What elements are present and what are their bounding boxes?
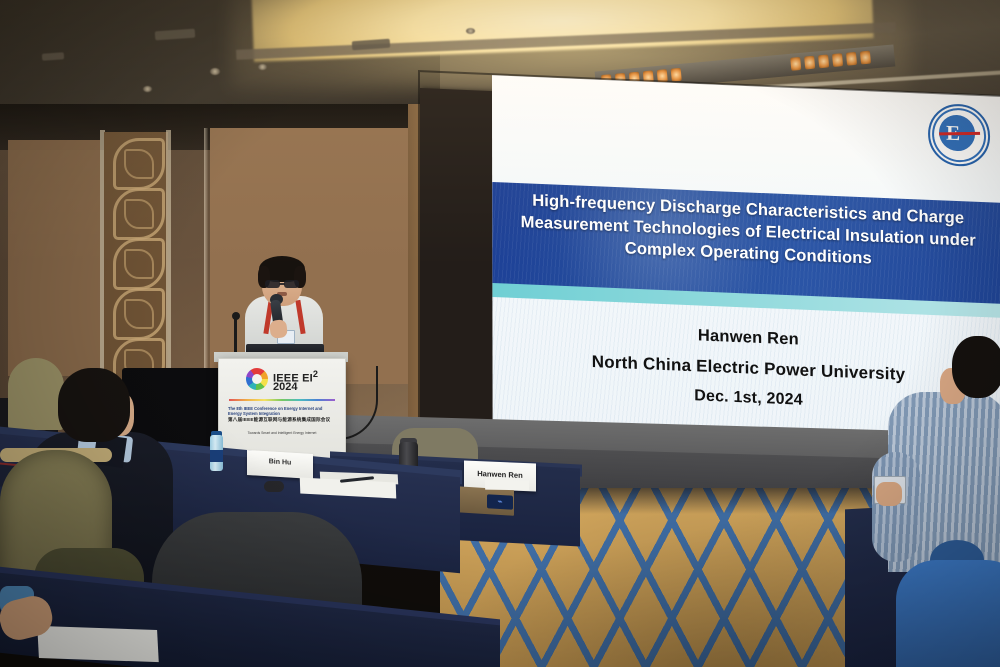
audience-member-hand	[876, 482, 902, 506]
fretwork-frame-right	[166, 130, 171, 384]
banquet-chair-background	[8, 358, 64, 430]
podium-conference-line-english: The 8th IEEE Conference on Energy Intern…	[228, 406, 336, 416]
podium-conference-line-chinese: 第八届IEEE能源互联网与能源系统集成国际会议	[228, 417, 336, 423]
audience-member-arm	[872, 452, 920, 562]
podium-color-rule	[229, 399, 335, 401]
speaker-glasses-left-lens	[265, 280, 280, 288]
ceiling-downlight	[466, 28, 475, 34]
audience-member-head	[58, 368, 130, 442]
speaker-hand	[269, 319, 288, 339]
speaker-glasses-right-lens	[284, 280, 299, 288]
papers	[485, 480, 529, 491]
name-card-label: Bin Hu	[247, 457, 313, 468]
wall-damask-panel-left	[8, 140, 100, 376]
gooseneck-microphone-head	[232, 312, 240, 320]
name-card: Bin Hu	[247, 450, 313, 479]
conference-room-photo: E High-frequency Discharge Characteristi…	[0, 0, 1000, 667]
podium-conference-superscript: 2	[313, 369, 318, 379]
logo-red-bar	[939, 132, 980, 135]
name-card-label: Hanwen Ren	[464, 468, 536, 480]
ceiling-downlight	[210, 68, 220, 75]
speaker-glasses-bridge	[279, 283, 285, 285]
podium-year: 2024	[273, 381, 297, 393]
papers	[37, 626, 159, 662]
ceiling-downlight	[258, 64, 267, 70]
ieee-ei-logo-icon	[246, 368, 268, 390]
phone-screen-glyph: ⌁	[487, 494, 513, 509]
podium-subtitle-english: Towards Smart and Intelligent Energy Int…	[228, 431, 336, 436]
computer-mouse	[264, 481, 284, 492]
audience-member-head	[952, 336, 1000, 398]
water-bottle-label	[210, 450, 223, 462]
panel-edge	[204, 128, 208, 384]
ceiling-downlight	[143, 86, 152, 92]
ornate-fretwork-panel	[104, 132, 168, 382]
smartphone: ⌁	[487, 494, 513, 509]
audience-member-blue-jacket	[896, 560, 1000, 667]
